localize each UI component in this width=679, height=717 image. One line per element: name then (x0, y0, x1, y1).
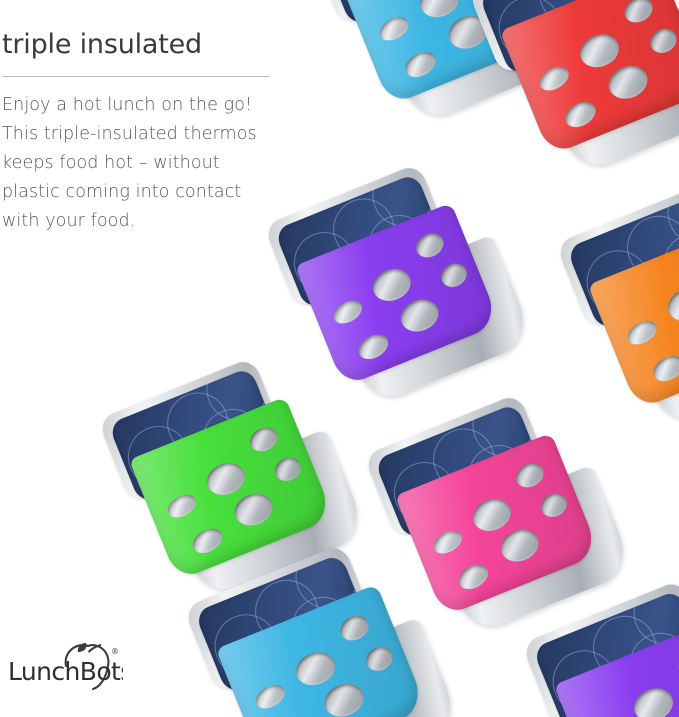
band-hole (291, 647, 340, 691)
page-title: triple insulated (2, 30, 302, 60)
band-hole (561, 97, 600, 132)
body-text: Enjoy a hot lunch on the go! This triple… (2, 91, 302, 236)
band-hole (412, 229, 448, 262)
band-hole (320, 678, 369, 717)
band-hole (368, 264, 415, 307)
band-hole (396, 294, 443, 337)
band-hole (430, 526, 466, 558)
registered-trademark-icon: ® (111, 647, 119, 656)
band-hole (468, 494, 515, 537)
band-hole (202, 458, 249, 501)
band-hole (376, 12, 413, 45)
body-line: Enjoy a hot lunch on the go! (2, 95, 252, 115)
band-hole (252, 680, 289, 713)
band-hole (271, 453, 305, 485)
band-hole (164, 490, 200, 522)
body-line: with your food. (2, 211, 135, 231)
band-hole (674, 647, 679, 681)
body-line: This triple-insulated thermos (2, 124, 257, 144)
band-hole (336, 611, 373, 645)
divider (2, 76, 270, 77)
band-hole (646, 24, 679, 57)
band-hole (454, 560, 492, 594)
band-hole (512, 459, 548, 492)
band-hole (620, 0, 657, 27)
band-hole (401, 47, 440, 82)
brand-logo: LunchBots ® (8, 640, 123, 692)
band-hole (663, 283, 679, 327)
body-line: keeps food hot – without (2, 153, 220, 173)
body-line: plastic coming into contact (2, 182, 241, 202)
thermos-orange (562, 171, 679, 449)
thermos-purple (270, 155, 537, 425)
band-hole (537, 489, 571, 521)
band-hole (246, 423, 282, 456)
band-hole (629, 683, 678, 717)
copy-block: triple insulated Enjoy a hot lunch on th… (2, 30, 302, 236)
band-hole (575, 29, 624, 73)
band-hole (362, 642, 397, 675)
band-hole (354, 330, 392, 364)
band-hole (496, 524, 543, 567)
band-hole (604, 60, 653, 104)
brand-wordmark: LunchBots (8, 657, 123, 686)
band-hole (188, 524, 226, 558)
band-hole (437, 259, 471, 291)
band-hole (330, 296, 366, 328)
band-hole (536, 62, 573, 95)
band-hole (649, 351, 679, 386)
band-hole (230, 488, 277, 531)
product-hero-image: triple insulated Enjoy a hot lunch on th… (0, 0, 679, 717)
band-hole (624, 316, 661, 349)
